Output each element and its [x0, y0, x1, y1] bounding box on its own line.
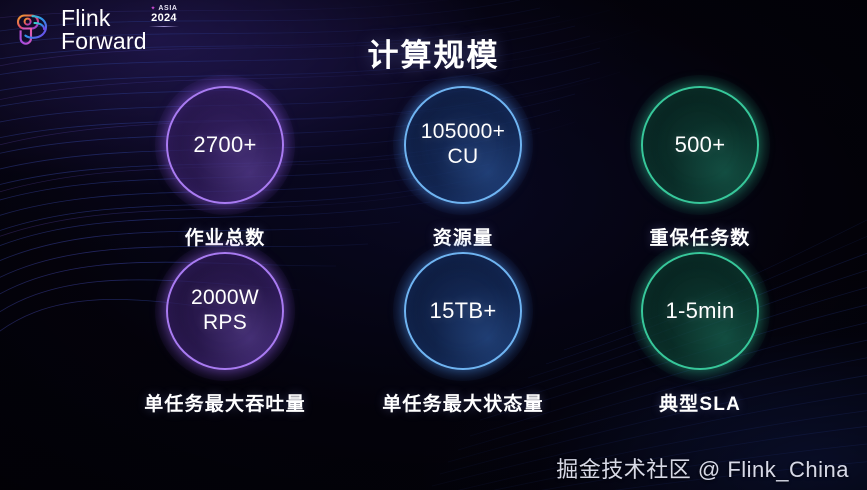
stat-ring-typical-sla: 1-5min: [641, 252, 759, 370]
stat-cell-typical-sla[interactable]: 1-5min 典型SLA: [585, 252, 815, 416]
stat-cell-max-state[interactable]: 15TB+ 单任务最大状态量: [348, 252, 578, 416]
stat-ring-max-throughput: 2000WRPS: [166, 252, 284, 370]
stats-grid: 2700+ 作业总数 105000+CU 资源量 500+ 重保任务数 2: [0, 86, 867, 412]
stat-value-typical-sla: 1-5min: [659, 298, 740, 324]
stat-cell-resources[interactable]: 105000+CU 资源量: [348, 86, 578, 250]
brand-badge-region: ✦ ASIA: [149, 5, 179, 12]
watermark-text: 掘金技术社区 @ Flink_China: [556, 452, 849, 484]
stat-ring-max-state: 15TB+: [404, 252, 522, 370]
stat-cell-max-throughput[interactable]: 2000WRPS 单任务最大吞吐量: [110, 252, 340, 416]
brand-badge: ✦ ASIA 2024: [149, 5, 179, 27]
slide-root: Flink Forward ✦ ASIA 2024 计算规模 2700+ 作业总…: [0, 0, 867, 490]
stat-cell-jobs-total[interactable]: 2700+ 作业总数: [110, 86, 340, 250]
stat-value-max-state: 15TB+: [424, 298, 503, 324]
page-title: 计算规模: [0, 30, 867, 75]
stats-row-2: 2000WRPS 单任务最大吞吐量 15TB+ 单任务最大状态量 1-5min …: [0, 252, 867, 412]
stat-label-max-throughput: 单任务最大吞吐量: [110, 389, 340, 416]
stat-cell-critical-tasks[interactable]: 500+ 重保任务数: [585, 86, 815, 250]
brand-badge-year: 2024: [149, 13, 179, 24]
stat-value-critical-tasks: 500+: [669, 132, 732, 158]
stat-ring-jobs-total: 2700+: [166, 86, 284, 204]
stat-value-jobs-total: 2700+: [187, 132, 262, 158]
stat-value-resources: 105000+CU: [415, 120, 511, 170]
stat-label-max-state: 单任务最大状态量: [348, 389, 578, 416]
stat-ring-critical-tasks: 500+: [641, 86, 759, 204]
brand-badge-underline: [149, 26, 179, 27]
stat-value-max-throughput: 2000WRPS: [185, 286, 265, 336]
stat-label-typical-sla: 典型SLA: [585, 389, 815, 416]
stat-ring-resources: 105000+CU: [404, 86, 522, 204]
stats-row-1: 2700+ 作业总数 105000+CU 资源量 500+ 重保任务数: [0, 86, 867, 252]
